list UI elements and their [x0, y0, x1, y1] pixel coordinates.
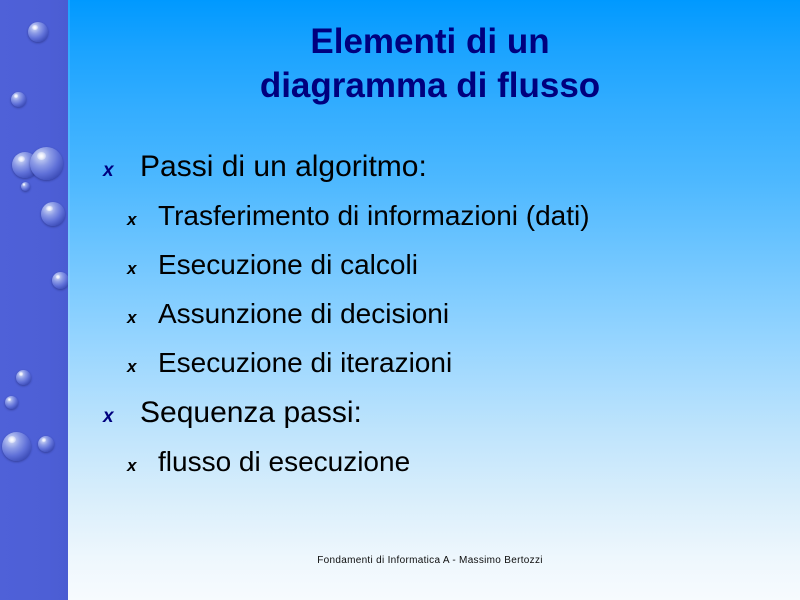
bullet-marker-icon: x	[127, 308, 158, 328]
bullet-item-level-2: xEsecuzione di iterazioni	[0, 347, 800, 396]
bullet-label: flusso di esecuzione	[158, 446, 410, 478]
bullet-marker-icon: x	[127, 259, 158, 279]
bullet-item-level-1: xSequenza passi:	[0, 396, 800, 446]
bullet-item-level-2: xAssunzione di decisioni	[0, 298, 800, 347]
bullet-label: Passi di un algoritmo:	[140, 150, 427, 184]
bullet-item-level-2: xEsecuzione di calcoli	[0, 249, 800, 298]
slide-body-bullet-list: xPassi di un algoritmo:xTrasferimento di…	[0, 150, 800, 495]
bullet-marker-icon: x	[103, 160, 140, 182]
title-line-1: Elementi di un	[80, 20, 780, 64]
bullet-item-level-2: xTrasferimento di informazioni (dati)	[0, 200, 800, 249]
bullet-marker-icon: x	[127, 210, 158, 230]
bullet-item-level-2: xflusso di esecuzione	[0, 446, 800, 495]
bullet-marker-icon: x	[127, 357, 158, 377]
bullet-label: Esecuzione di iterazioni	[158, 347, 452, 379]
decorative-bubble	[28, 22, 48, 42]
title-line-2: diagramma di flusso	[80, 64, 780, 108]
slide-title: Elementi di un diagramma di flusso	[80, 20, 780, 108]
bullet-item-level-1: xPassi di un algoritmo:	[0, 150, 800, 200]
decorative-bubble	[11, 92, 26, 107]
bullet-label: Trasferimento di informazioni (dati)	[158, 200, 590, 232]
bullet-label: Sequenza passi:	[140, 396, 362, 430]
bullet-marker-icon: x	[127, 456, 158, 476]
slide-footer: Fondamenti di Informatica A - Massimo Be…	[80, 555, 780, 566]
bullet-label: Esecuzione di calcoli	[158, 249, 418, 281]
bullet-marker-icon: x	[103, 406, 140, 428]
bullet-label: Assunzione di decisioni	[158, 298, 449, 330]
slide-canvas: Elementi di un diagramma di flusso xPass…	[0, 0, 800, 600]
